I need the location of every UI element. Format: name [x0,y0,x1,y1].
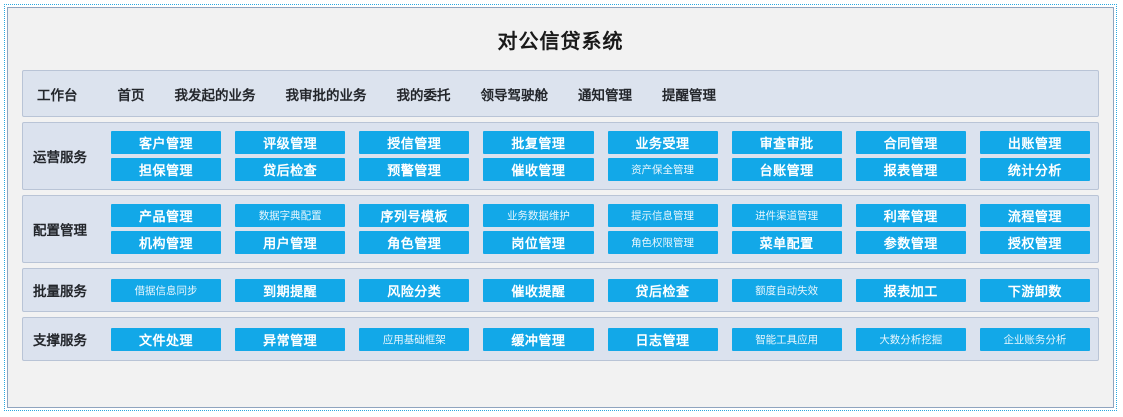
nav-item-7[interactable]: 提醒管理 [662,84,716,104]
section-tile-grid: 借据信息同步到期提醒风险分类催收提醒贷后检查额度自动失效报表加工下游卸数 [111,279,1090,302]
tile-row: 机构管理用户管理角色管理岗位管理角色权限管理菜单配置参数管理授权管理 [111,231,1090,254]
nav-item-5[interactable]: 领导驾驶舱 [481,84,549,104]
menu-tile[interactable]: 异常管理 [235,328,345,351]
menu-tile[interactable]: 文件处理 [111,328,221,351]
section-label: 运营服务 [33,146,111,166]
nav-item-3[interactable]: 我审批的业务 [286,84,367,104]
menu-tile[interactable]: 贷后检查 [608,279,718,302]
menu-tile[interactable]: 产品管理 [111,204,221,227]
menu-tile[interactable]: 利率管理 [856,204,966,227]
menu-tile[interactable]: 资产保全管理 [608,158,718,181]
main-content: 工作台首页我发起的业务我审批的业务我的委托领导驾驶舱通知管理提醒管理 运营服务客… [8,70,1113,407]
menu-tile[interactable]: 序列号模板 [359,204,469,227]
menu-tile[interactable]: 预警管理 [359,158,469,181]
menu-tile[interactable]: 智能工具应用 [732,328,842,351]
menu-tile[interactable]: 合同管理 [856,131,966,154]
menu-tile[interactable]: 贷后检查 [235,158,345,181]
menu-tile[interactable]: 角色管理 [359,231,469,254]
menu-tile[interactable]: 风险分类 [359,279,469,302]
menu-tile[interactable]: 业务受理 [608,131,718,154]
service-section: 批量服务借据信息同步到期提醒风险分类催收提醒贷后检查额度自动失效报表加工下游卸数 [22,268,1099,312]
menu-tile[interactable]: 日志管理 [608,328,718,351]
nav-item-6[interactable]: 通知管理 [578,84,632,104]
tile-row: 产品管理数据字典配置序列号模板业务数据维护提示信息管理进件渠道管理利率管理流程管… [111,204,1090,227]
service-section: 支撑服务文件处理异常管理应用基础框架缓冲管理日志管理智能工具应用大数分析挖掘企业… [22,317,1099,361]
app-selection-frame: 对公信贷系统 工作台首页我发起的业务我审批的业务我的委托领导驾驶舱通知管理提醒管… [4,4,1117,411]
service-section: 运营服务客户管理评级管理授信管理批复管理业务受理审查审批合同管理出账管理担保管理… [22,122,1099,190]
section-tile-grid: 文件处理异常管理应用基础框架缓冲管理日志管理智能工具应用大数分析挖掘企业账务分析 [111,328,1090,351]
menu-tile[interactable]: 报表管理 [856,158,966,181]
tile-row: 文件处理异常管理应用基础框架缓冲管理日志管理智能工具应用大数分析挖掘企业账务分析 [111,328,1090,351]
menu-tile[interactable]: 机构管理 [111,231,221,254]
menu-tile[interactable]: 出账管理 [980,131,1090,154]
section-tile-grid: 产品管理数据字典配置序列号模板业务数据维护提示信息管理进件渠道管理利率管理流程管… [111,204,1090,254]
menu-tile[interactable]: 参数管理 [856,231,966,254]
menu-tile[interactable]: 台账管理 [732,158,842,181]
menu-tile[interactable]: 下游卸数 [980,279,1090,302]
menu-tile[interactable]: 报表加工 [856,279,966,302]
menu-tile[interactable]: 进件渠道管理 [732,204,842,227]
section-label: 配置管理 [33,219,111,239]
tile-row: 客户管理评级管理授信管理批复管理业务受理审查审批合同管理出账管理 [111,131,1090,154]
menu-tile[interactable]: 数据字典配置 [235,204,345,227]
menu-tile[interactable]: 岗位管理 [483,231,593,254]
top-navigation-bar: 工作台首页我发起的业务我审批的业务我的委托领导驾驶舱通知管理提醒管理 [22,70,1099,117]
tile-row: 担保管理贷后检查预警管理催收管理资产保全管理台账管理报表管理统计分析 [111,158,1090,181]
nav-item-2[interactable]: 我发起的业务 [175,84,256,104]
menu-tile[interactable]: 大数分析挖掘 [856,328,966,351]
menu-tile[interactable]: 额度自动失效 [732,279,842,302]
menu-tile[interactable]: 催收提醒 [483,279,593,302]
menu-tile[interactable]: 业务数据维护 [483,204,593,227]
menu-tile[interactable]: 审查审批 [732,131,842,154]
menu-tile[interactable]: 担保管理 [111,158,221,181]
tile-row: 借据信息同步到期提醒风险分类催收提醒贷后检查额度自动失效报表加工下游卸数 [111,279,1090,302]
service-sections: 运营服务客户管理评级管理授信管理批复管理业务受理审查审批合同管理出账管理担保管理… [22,122,1099,397]
menu-tile[interactable]: 评级管理 [235,131,345,154]
menu-tile[interactable]: 企业账务分析 [980,328,1090,351]
section-label: 批量服务 [33,280,111,300]
nav-item-1[interactable]: 首页 [118,84,145,104]
menu-tile[interactable]: 流程管理 [980,204,1090,227]
menu-tile[interactable]: 批复管理 [483,131,593,154]
menu-tile[interactable]: 应用基础框架 [359,328,469,351]
service-section: 配置管理产品管理数据字典配置序列号模板业务数据维护提示信息管理进件渠道管理利率管… [22,195,1099,263]
page-title: 对公信贷系统 [498,25,624,54]
menu-tile[interactable]: 授信管理 [359,131,469,154]
menu-tile[interactable]: 用户管理 [235,231,345,254]
menu-tile[interactable]: 统计分析 [980,158,1090,181]
title-bar: 对公信贷系统 [8,8,1113,70]
menu-tile[interactable]: 缓冲管理 [483,328,593,351]
nav-item-4[interactable]: 我的委托 [397,84,451,104]
menu-tile[interactable]: 催收管理 [483,158,593,181]
app-window: 对公信贷系统 工作台首页我发起的业务我审批的业务我的委托领导驾驶舱通知管理提醒管… [7,7,1114,408]
section-tile-grid: 客户管理评级管理授信管理批复管理业务受理审查审批合同管理出账管理担保管理贷后检查… [111,131,1090,181]
menu-tile[interactable]: 授权管理 [980,231,1090,254]
menu-tile[interactable]: 到期提醒 [235,279,345,302]
section-label: 支撑服务 [33,329,111,349]
menu-tile[interactable]: 菜单配置 [732,231,842,254]
menu-tile[interactable]: 借据信息同步 [111,279,221,302]
menu-tile[interactable]: 客户管理 [111,131,221,154]
menu-tile[interactable]: 提示信息管理 [608,204,718,227]
nav-item-0[interactable]: 工作台 [37,84,78,104]
menu-tile[interactable]: 角色权限管理 [608,231,718,254]
